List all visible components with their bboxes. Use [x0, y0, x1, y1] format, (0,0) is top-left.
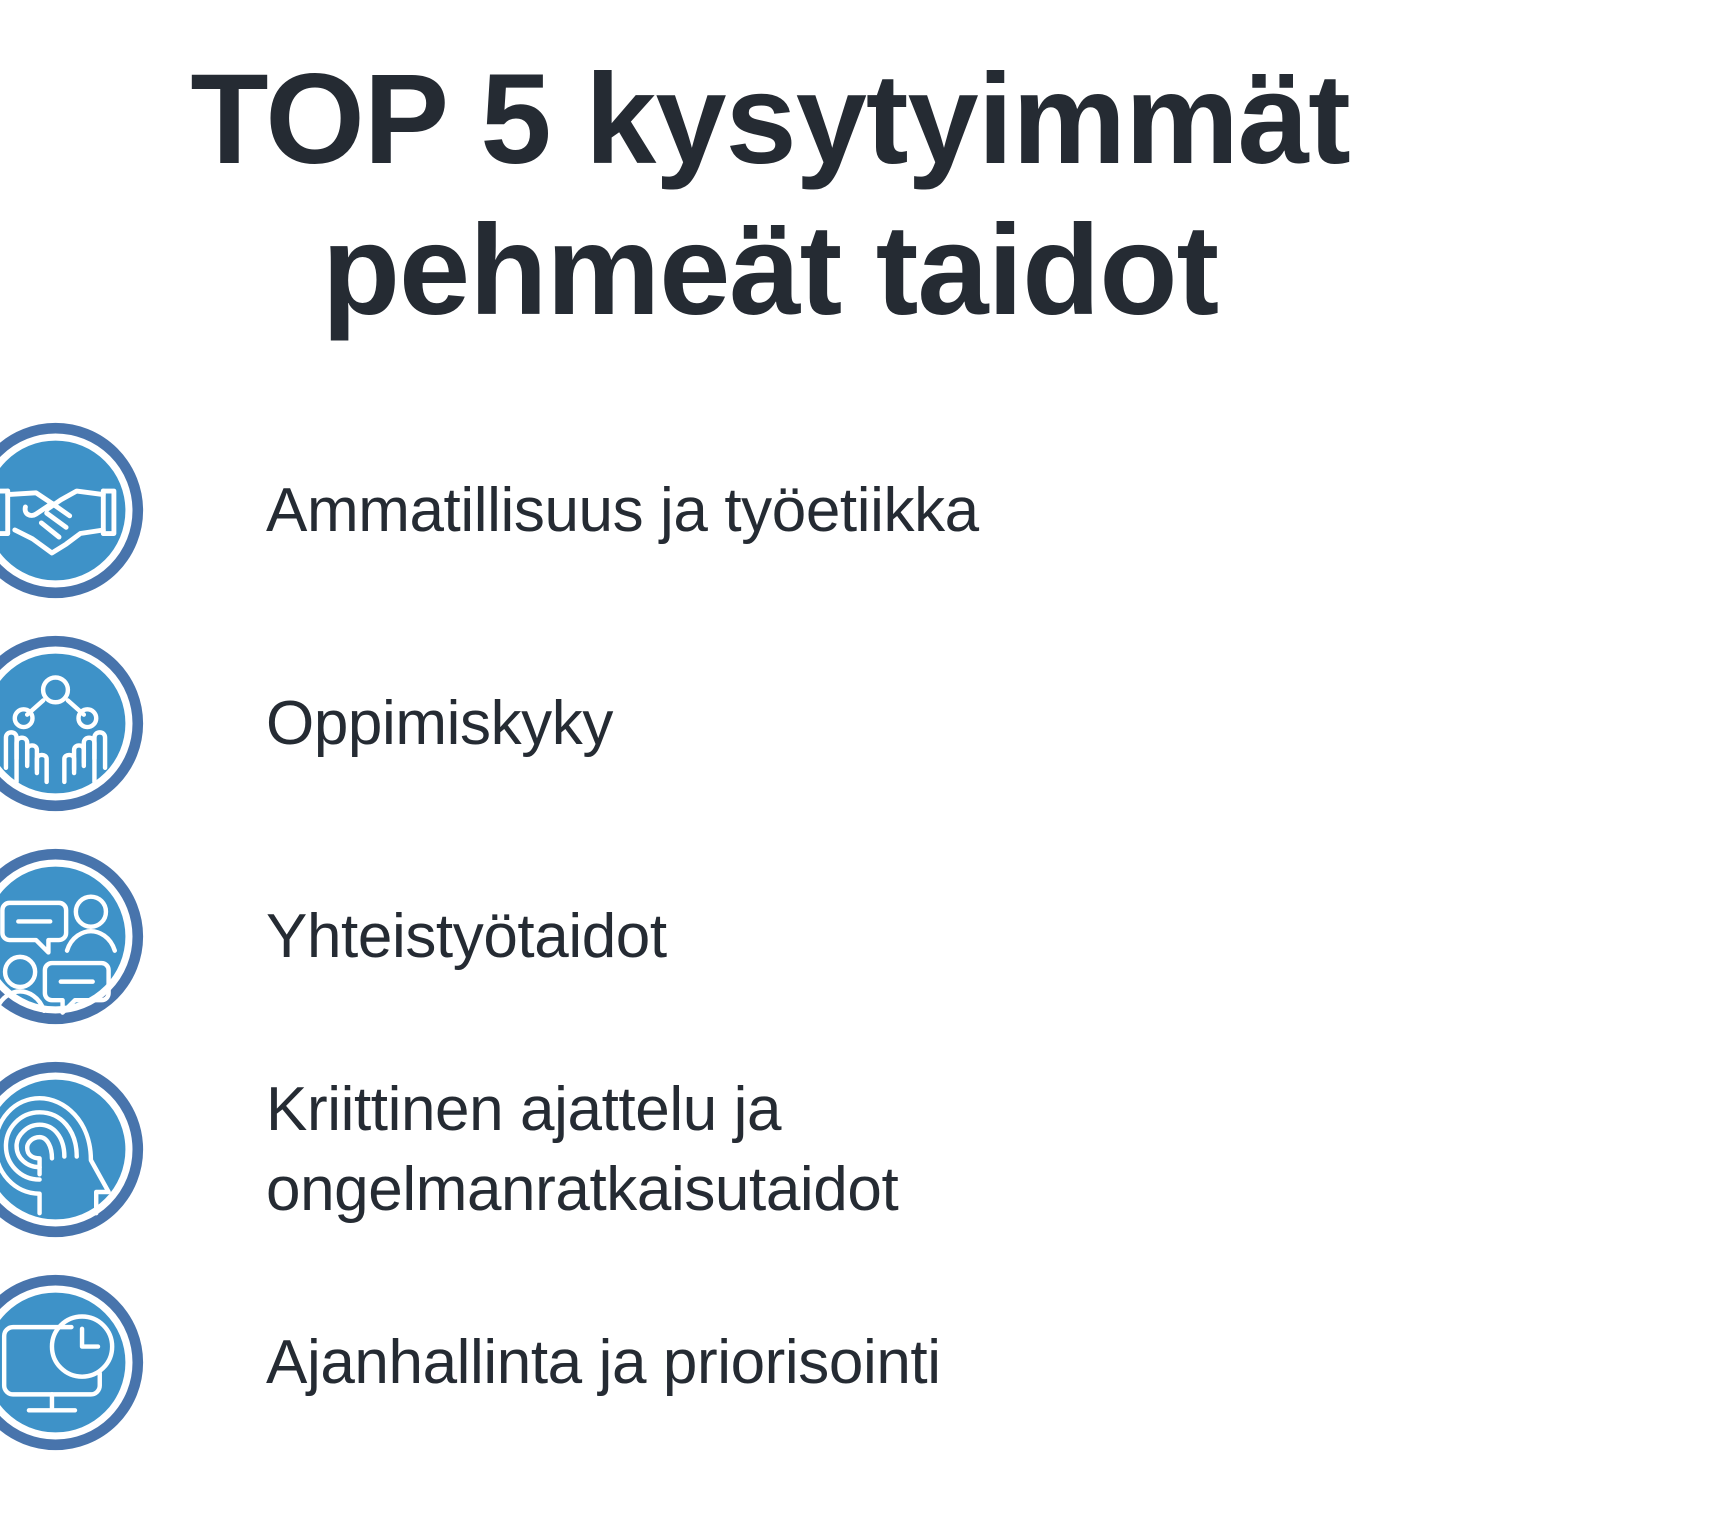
list-item: Kriittinen ajattelu ja ongelmanratkaisut… [0, 1043, 1540, 1256]
list-item: Yhteistyötaidot [0, 830, 1540, 1043]
list-item-label: Yhteistyötaidot [266, 897, 667, 976]
list-item: Ajanhallinta ja priorisointi [0, 1256, 1540, 1469]
skill-list: Ammatillisuus ja työetiikka [0, 404, 1540, 1469]
handshake-icon [0, 404, 162, 617]
list-item: Oppimiskyky [0, 617, 1540, 830]
list-item-label: Oppimiskyky [266, 684, 613, 763]
people-chat-bubbles-icon-glyph [0, 848, 144, 1025]
list-item-label: Ajanhallinta ja priorisointi [266, 1323, 941, 1402]
monitor-clock-icon-glyph [0, 1274, 144, 1451]
list-item-label: Kriittinen ajattelu ja ongelmanratkaisut… [266, 1070, 898, 1229]
infographic-poster: TOP 5 kysytyimmät pehmeät taidot [0, 0, 1715, 1539]
head-spiral-thinking-icon-glyph [0, 1061, 144, 1238]
head-spiral-thinking-icon [0, 1043, 162, 1256]
page-title: TOP 5 kysytyimmät pehmeät taidot [0, 44, 1540, 346]
hands-holding-network-icon [0, 617, 162, 830]
monitor-clock-icon [0, 1256, 162, 1469]
hands-holding-network-icon-glyph [0, 635, 144, 812]
handshake-icon-glyph [0, 422, 144, 599]
people-chat-bubbles-icon [0, 830, 162, 1043]
list-item: Ammatillisuus ja työetiikka [0, 404, 1540, 617]
list-item-label: Ammatillisuus ja työetiikka [266, 471, 979, 550]
